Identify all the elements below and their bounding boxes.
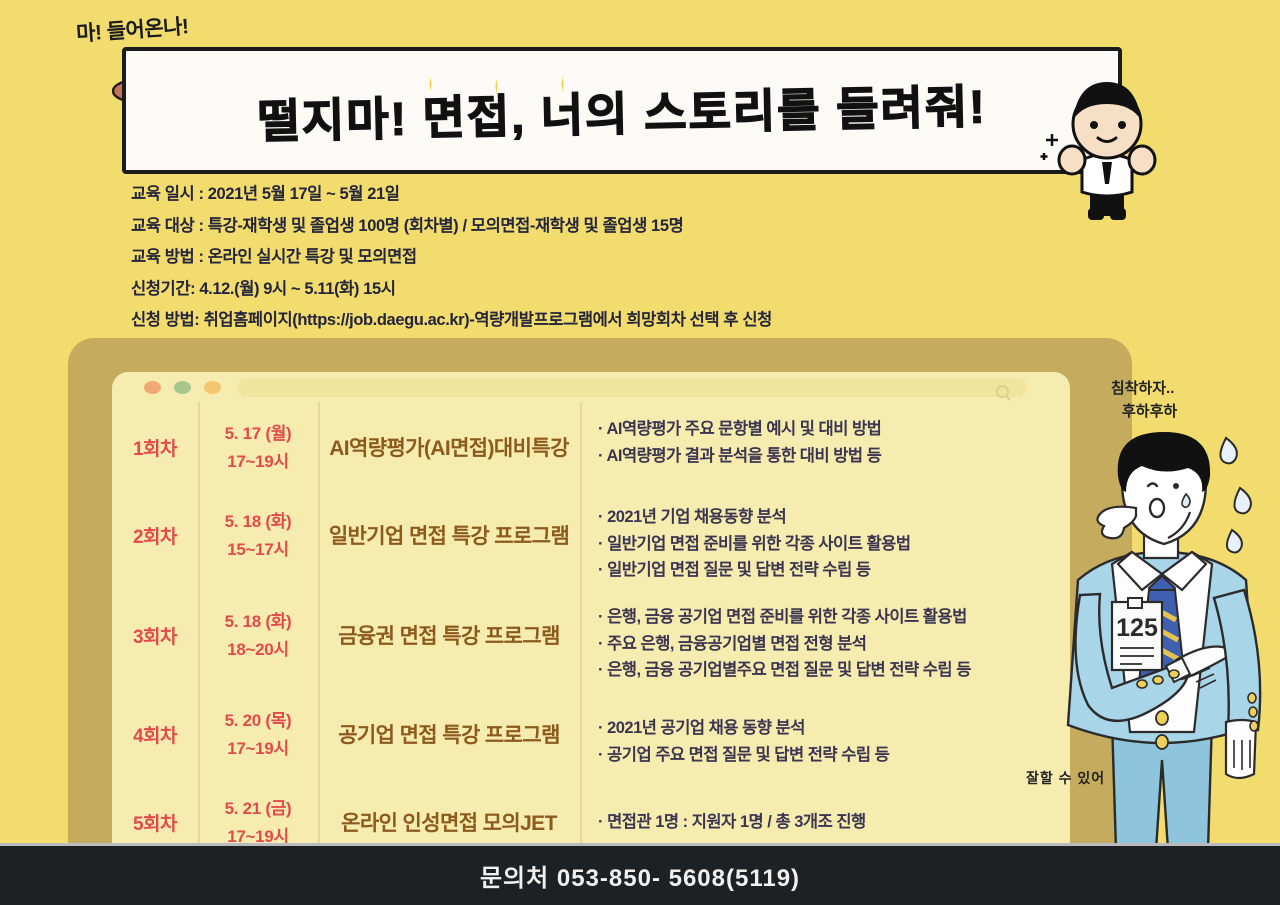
- info-line: 교육 방법 : 온라인 실시간 특강 및 모의면접: [131, 249, 1031, 266]
- info-line: 신청 방법: 취업홈페이지(https://job.daegu.ac.kr)-역…: [131, 312, 1031, 329]
- poster-root: 마! 들어온나! 떨지마! 면접, 너의 스토리를 들려줘!: [0, 0, 1280, 905]
- session-program: 금융권 면접 특강 프로그램: [318, 604, 580, 650]
- handwriting-calm-line2: 후하후하: [1122, 401, 1177, 424]
- handwriting-calm-line1: 침착하자..: [1111, 380, 1175, 397]
- session-datetime: 5. 17 (월) 17~19시: [198, 416, 318, 475]
- session-details: · 면접관 1명 : 지원자 1명 / 총 3개조 진행: [580, 791, 1070, 836]
- detail-item: · 일반기업 면접 준비를 위한 각종 사이트 활용법: [598, 531, 1070, 558]
- window-maximize-dot-icon[interactable]: [204, 381, 221, 394]
- schedule-table: 1회차 5. 17 (월) 17~19시 AI역량평가(AI면접)대비특강 · …: [112, 402, 1070, 858]
- table-row: 2회차 5. 18 (화) 15~17시 일반기업 면접 특강 프로그램 · 2…: [112, 504, 1070, 604]
- contact-text: 문의처 053-850- 5608(5119): [480, 858, 800, 893]
- session-datetime: 5. 18 (화) 15~17시: [198, 504, 318, 563]
- table-row: 3회차 5. 18 (화) 18~20시 금융권 면접 특강 프로그램 · 은행…: [112, 604, 1070, 703]
- session-number: 5회차: [112, 791, 198, 836]
- handwriting-calm-text: 침착하자.. 후하후하: [1108, 378, 1177, 423]
- info-line: 교육 일시 : 2021년 5월 17일 ~ 5월 21일: [131, 186, 1031, 203]
- session-time: 18~20시: [198, 636, 318, 664]
- session-program: 온라인 인성면접 모의JET: [318, 791, 580, 837]
- session-datetime: 5. 18 (화) 18~20시: [198, 604, 318, 663]
- session-time: 17~19시: [198, 735, 318, 763]
- session-number: 3회차: [112, 604, 198, 649]
- session-number: 4회차: [112, 703, 198, 748]
- detail-item: · 은행, 금융 공기업별주요 면접 질문 및 답변 전략 수립 등: [598, 657, 1070, 684]
- footer-contact-bar: 문의처 053-850- 5608(5119): [0, 843, 1280, 905]
- browser-window: 1회차 5. 17 (월) 17~19시 AI역량평가(AI면접)대비특강 · …: [112, 372, 1070, 858]
- session-datetime: 5. 20 (목) 17~19시: [198, 703, 318, 762]
- info-block: 교육 일시 : 2021년 5월 17일 ~ 5월 21일 교육 대상 : 특강…: [131, 186, 1031, 344]
- session-time: 15~17시: [198, 536, 318, 564]
- browser-chrome: [112, 372, 1070, 402]
- page-title: 떨지마! 면접, 너의 스토리를 들려줘!: [125, 67, 1118, 154]
- session-program: AI역량평가(AI면접)대비특강: [318, 416, 580, 462]
- info-line: 신청기간: 4.12.(월) 9시 ~ 5.11(화) 15시: [131, 281, 1031, 298]
- detail-item: · 일반기업 면접 질문 및 답변 전략 수립 등: [598, 557, 1070, 584]
- session-datetime: 5. 21 (금) 17~19시: [198, 791, 318, 850]
- session-program: 공기업 면접 특강 프로그램: [318, 703, 580, 749]
- session-details: · AI역량평가 주요 문항별 예시 및 대비 방법 · AI역량평가 결과 분…: [580, 416, 1070, 469]
- nervous-student-character-icon: 125: [1040, 430, 1280, 850]
- confident-student-character-icon: [1030, 68, 1180, 228]
- detail-item: · 2021년 공기업 채용 동향 분석: [598, 715, 1070, 742]
- session-date: 5. 18 (화): [198, 508, 318, 536]
- detail-item: · AI역량평가 결과 분석을 통한 대비 방법 등: [598, 443, 1070, 470]
- session-date: 5. 20 (목): [198, 707, 318, 735]
- session-time: 17~19시: [198, 448, 318, 476]
- detail-item: · AI역량평가 주요 문항별 예시 및 대비 방법: [598, 416, 1070, 443]
- session-details: · 2021년 기업 채용동향 분석 · 일반기업 면접 준비를 위한 각종 사…: [580, 504, 1070, 584]
- detail-item: · 2021년 기업 채용동향 분석: [598, 504, 1070, 531]
- session-number: 2회차: [112, 504, 198, 549]
- detail-item: · 공기업 주요 면접 질문 및 답변 전략 수립 등: [598, 742, 1070, 769]
- detail-item: · 면접관 1명 : 지원자 1명 / 총 3개조 진행: [598, 809, 1070, 836]
- session-details: · 2021년 공기업 채용 동향 분석 · 공기업 주요 면접 질문 및 답변…: [580, 703, 1070, 768]
- session-date: 5. 18 (화): [198, 608, 318, 636]
- badge-number: 125: [1116, 614, 1158, 642]
- window-minimize-dot-icon[interactable]: [174, 381, 191, 394]
- session-program: 일반기업 면접 특강 프로그램: [318, 504, 580, 550]
- detail-item: · 주요 은행, 금융공기업별 면접 전형 분석: [598, 631, 1070, 658]
- detail-item: · 은행, 금융 공기업 면접 준비를 위한 각종 사이트 활용법: [598, 604, 1070, 631]
- window-close-dot-icon[interactable]: [144, 381, 161, 394]
- session-number: 1회차: [112, 416, 198, 461]
- session-details: · 은행, 금융 공기업 면접 준비를 위한 각종 사이트 활용법 · 주요 은…: [580, 604, 1070, 684]
- info-line: 교육 대상 : 특강-재학생 및 졸업생 100명 (회차별) / 모의면접-재…: [131, 218, 1031, 235]
- table-row: 4회차 5. 20 (목) 17~19시 공기업 면접 특강 프로그램 · 20…: [112, 703, 1070, 791]
- session-date: 5. 17 (월): [198, 420, 318, 448]
- speech-bubble-text-top-left: 마! 들어온나!: [75, 10, 189, 48]
- address-bar[interactable]: [237, 378, 1027, 397]
- title-box: 떨지마! 면접, 너의 스토리를 들려줘!: [122, 47, 1122, 174]
- search-icon: [996, 385, 1009, 398]
- session-date: 5. 21 (금): [198, 795, 318, 823]
- table-row: 1회차 5. 17 (월) 17~19시 AI역량평가(AI면접)대비특강 · …: [112, 402, 1070, 504]
